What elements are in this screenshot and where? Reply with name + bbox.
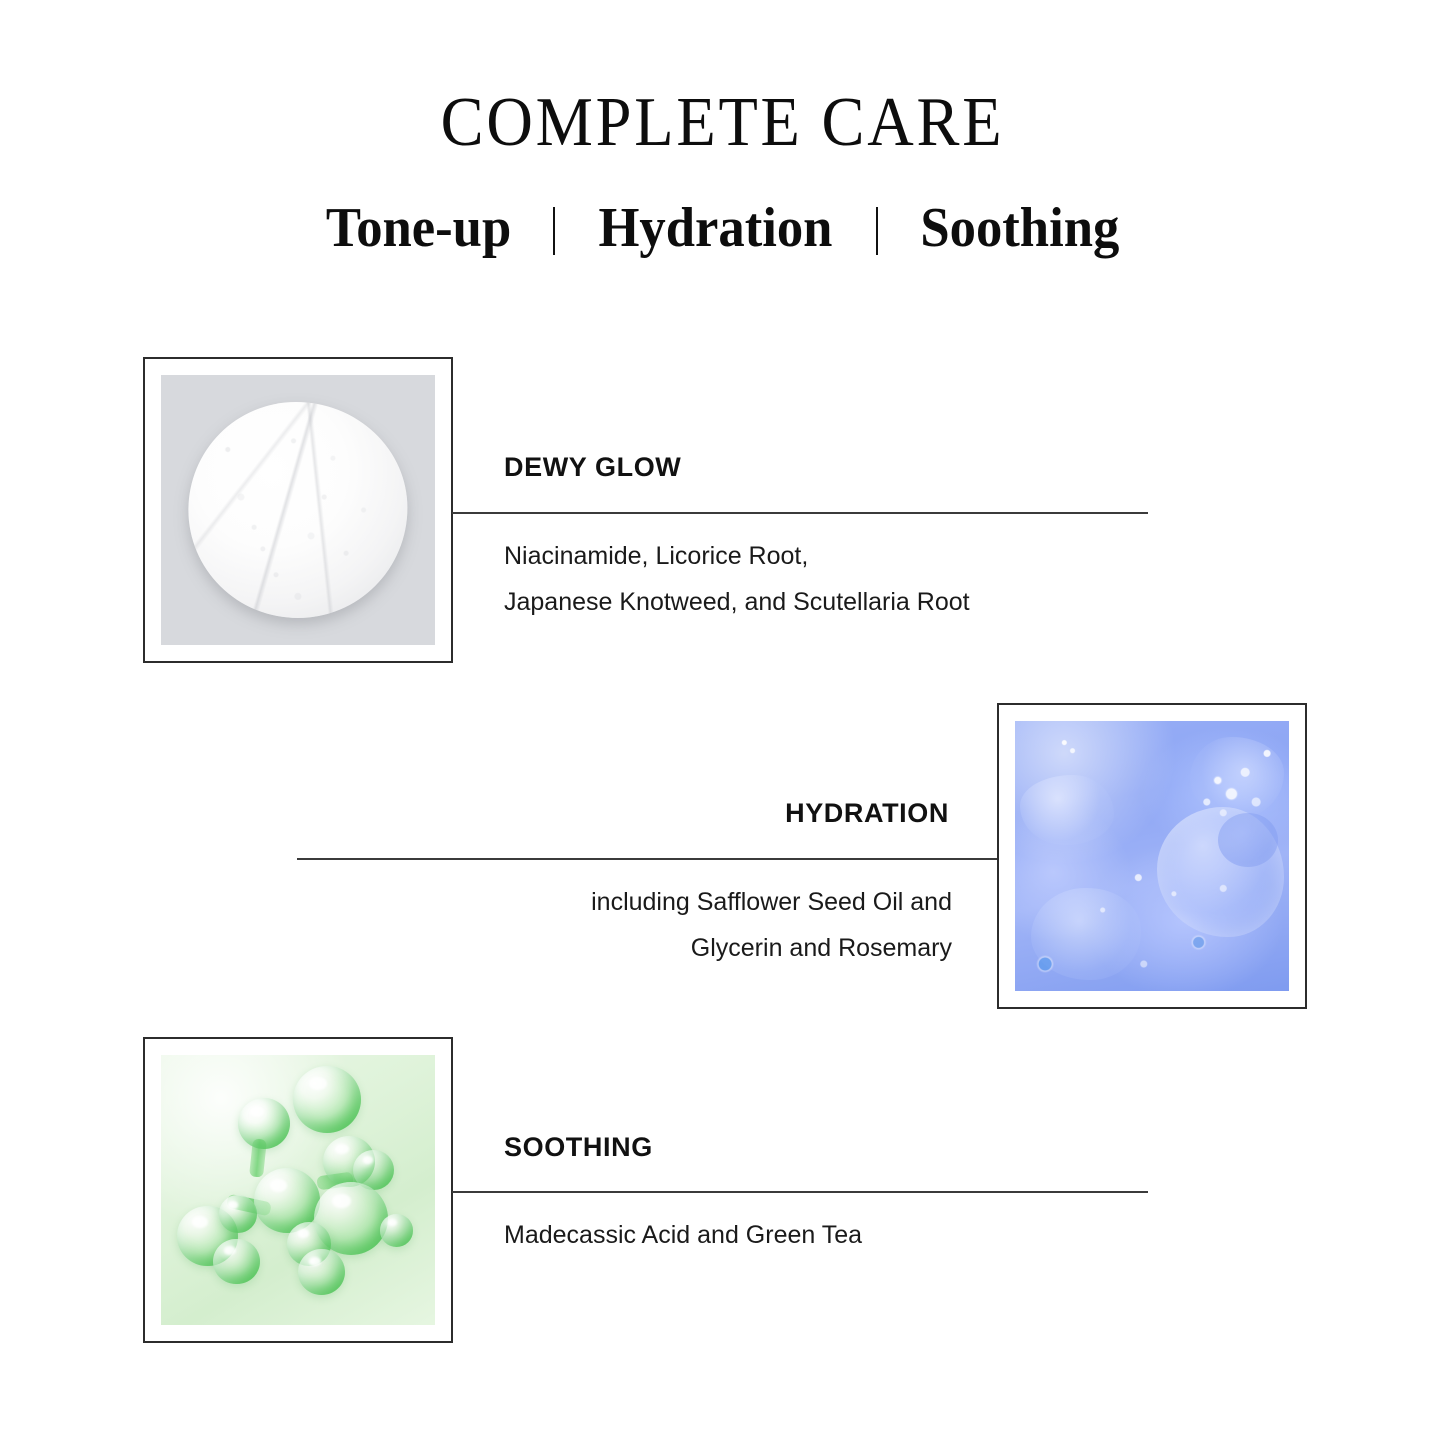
hydration-label: HYDRATION xyxy=(629,798,949,829)
green-molecule-photo-frame xyxy=(143,1037,453,1343)
powder-grain-texture xyxy=(188,402,407,618)
blue-gel-photo xyxy=(1015,721,1289,991)
molecule-sphere-9 xyxy=(213,1239,260,1285)
benefit-tone-up: Tone-up xyxy=(322,200,515,256)
molecule-sphere-8 xyxy=(219,1195,257,1233)
soothing-rule xyxy=(452,1191,1148,1193)
molecule-sphere-12 xyxy=(380,1214,413,1246)
page-title: COMPLETE CARE xyxy=(58,0,1387,158)
hydration-rule xyxy=(297,858,997,860)
subtitle-separator-2 xyxy=(876,207,878,255)
molecule-sphere-2 xyxy=(238,1098,290,1149)
soothing-description: Madecassic Acid and Green Tea xyxy=(504,1212,1164,1258)
soothing-label: SOOTHING xyxy=(504,1132,653,1163)
benefits-subtitle: Tone-up Hydration Soothing xyxy=(0,158,1445,256)
complete-care-infographic: COMPLETE CARE Tone-up Hydration Soothing… xyxy=(0,0,1445,1445)
gel-bubbles-texture xyxy=(1015,721,1289,991)
powder-mound-shape xyxy=(188,402,407,618)
benefit-hydration: Hydration xyxy=(595,200,837,256)
green-molecule-photo xyxy=(161,1055,435,1325)
white-powder-photo xyxy=(161,375,435,645)
blue-gel-photo-frame xyxy=(997,703,1307,1009)
molecule-sphere-11 xyxy=(298,1249,345,1295)
subtitle-separator-1 xyxy=(553,207,555,255)
dewy-glow-rule xyxy=(452,512,1148,514)
header: COMPLETE CARE Tone-up Hydration Soothing xyxy=(0,0,1445,256)
dewy-glow-label: DEWY GLOW xyxy=(504,452,681,483)
dewy-glow-description: Niacinamide, Licorice Root, Japanese Kno… xyxy=(504,533,1164,625)
molecule-sphere-1 xyxy=(293,1066,362,1134)
hydration-description: including Safflower Seed Oil and Glyceri… xyxy=(337,879,952,971)
benefit-soothing: Soothing xyxy=(916,200,1122,256)
white-powder-photo-frame xyxy=(143,357,453,663)
